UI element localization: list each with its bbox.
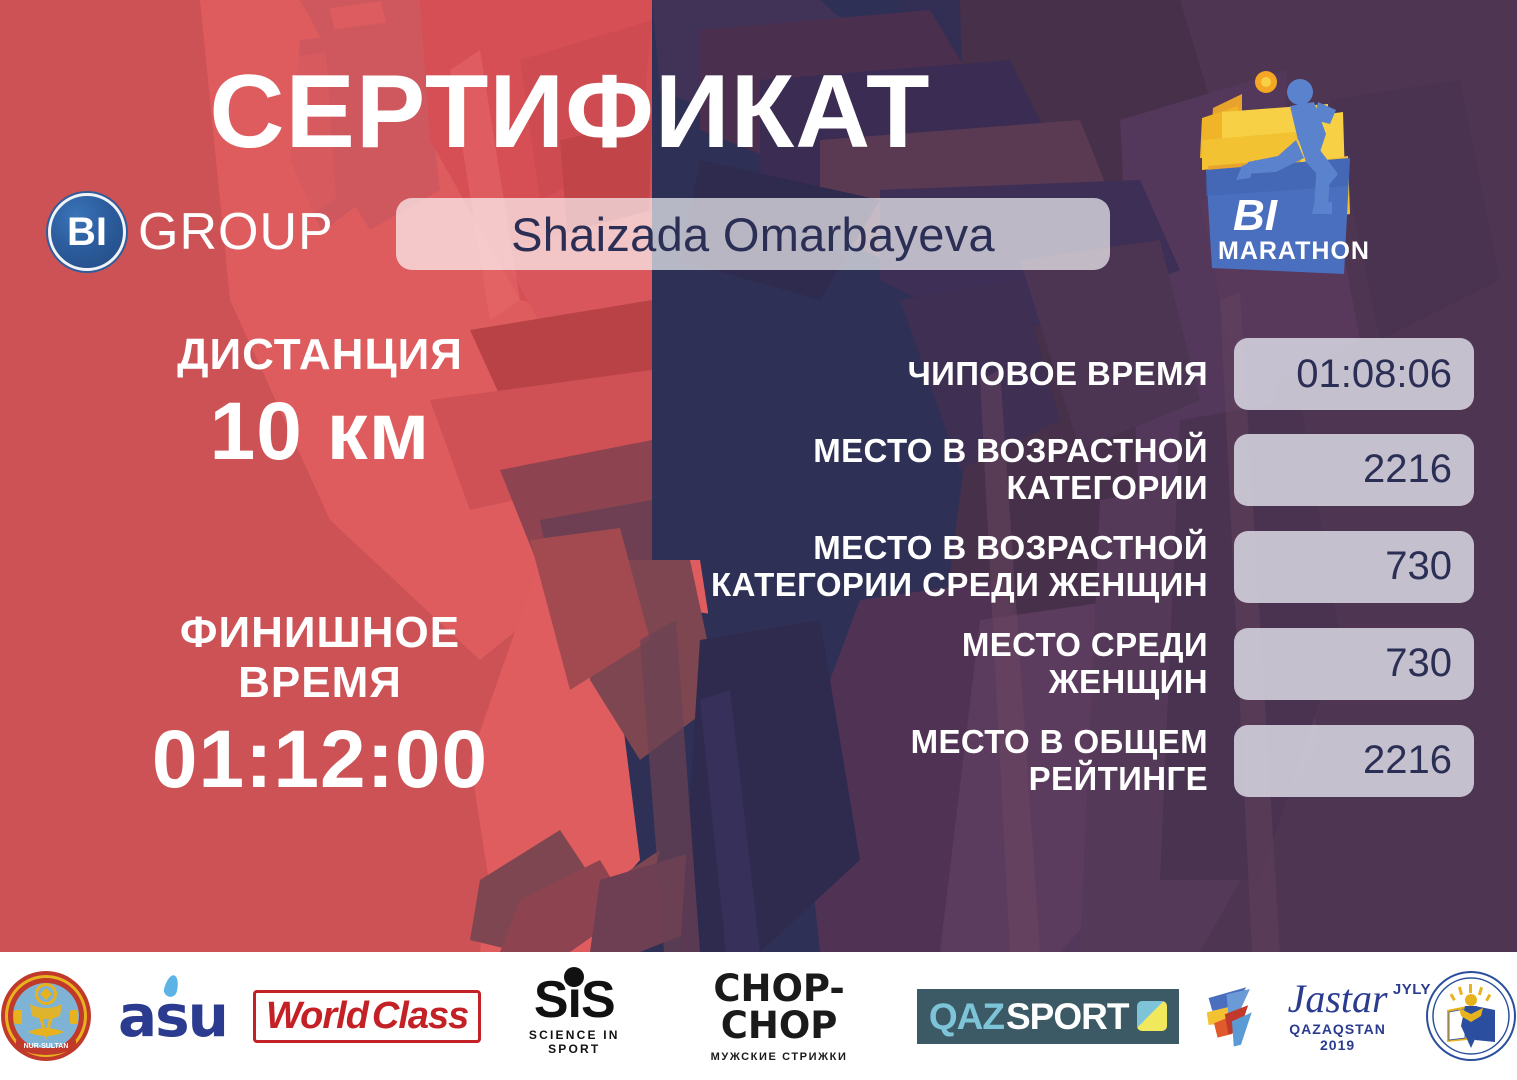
bi-marathon-logo: BI MARATHON [1178, 62, 1383, 308]
stat-row: МЕСТО В ОБЩЕМ РЕЙТИНГЕ 2216 [612, 724, 1474, 798]
stat-value: 730 [1234, 628, 1474, 700]
participant-name-badge: Shaizada Omarbayeva [396, 198, 1110, 270]
jastar-text-block: Jastar JYLY QAZAQSTAN 2019 [1276, 979, 1399, 1053]
stat-label: МЕСТО В ОБЩЕМ РЕЙТИНГЕ [612, 724, 1234, 798]
stat-label: МЕСТО В ВОЗРАСТНОЙ КАТЕГОРИИ СРЕДИ ЖЕНЩИ… [612, 530, 1234, 604]
sponsor-qazsport: QAZ SPORT [917, 968, 1180, 1064]
world-class-word2: Class [372, 997, 468, 1035]
marathon-bi-text: BI [1233, 191, 1278, 240]
left-stats-column: ДИСТАНЦИЯ 10 км ФИНИШНОЕ ВРЕМЯ 01:12:00 [40, 330, 600, 806]
stat-value: 2216 [1234, 434, 1474, 506]
finish-time-label: ФИНИШНОЕ ВРЕМЯ [40, 608, 600, 708]
stat-label: МЕСТО В ВОЗРАСТНОЙ КАТЕГОРИИ [612, 433, 1234, 507]
stat-label: ЧИПОВОЕ ВРЕМЯ [612, 356, 1234, 393]
qazsport-word1: QAZ [929, 998, 1004, 1035]
ministry-emblem-icon [1425, 970, 1517, 1062]
stat-row: ЧИПОВОЕ ВРЕМЯ 01:08:06 [612, 338, 1474, 410]
distance-value: 10 км [40, 386, 600, 478]
sponsor-chop-chop: CHOP-CHOP МУЖСКИЕ СТРИЖКИ [667, 968, 891, 1064]
participant-name: Shaizada Omarbayeva [511, 207, 995, 262]
asu-logo: asu [118, 987, 227, 1045]
chop-chop-tagline: МУЖСКИЕ СТРИЖКИ [667, 1051, 891, 1063]
bi-circle-icon: BI [48, 193, 126, 271]
sponsor-asu: asu [118, 968, 227, 1064]
stat-value: 01:08:06 [1234, 338, 1474, 410]
world-class-logo: World Class [253, 990, 481, 1043]
sponsor-ministry [1425, 968, 1517, 1064]
stat-row: МЕСТО СРЕДИ ЖЕНЩИН 730 [612, 627, 1474, 701]
sis-tagline: SCIENCE IN SPORT [507, 1028, 641, 1056]
qazsport-mark-icon [1137, 1001, 1167, 1031]
sponsor-jastar: Jastar JYLY QAZAQSTAN 2019 [1205, 968, 1399, 1064]
bi-group-logo: BI GROUP [48, 193, 334, 271]
stat-label: МЕСТО СРЕДИ ЖЕНЩИН [612, 627, 1234, 701]
sponsor-sis: SiS SCIENCE IN SPORT [507, 968, 641, 1064]
world-class-word1: World [266, 997, 368, 1035]
left-spacer [40, 478, 600, 608]
stat-row: МЕСТО В ВОЗРАСТНОЙ КАТЕГОРИИ СРЕДИ ЖЕНЩИ… [612, 530, 1474, 604]
sis-dot-icon [564, 967, 584, 987]
qazsport-logo: QAZ SPORT [917, 989, 1180, 1044]
stat-value: 2216 [1234, 725, 1474, 797]
marathon-word-text: MARATHON [1218, 237, 1370, 265]
jastar-jyly-label: JYLY [1393, 981, 1431, 998]
jastar-arrow-icon [1205, 978, 1270, 1054]
chop-chop-logo: CHOP-CHOP МУЖСКИЕ СТРИЖКИ [667, 970, 891, 1063]
stat-value: 730 [1234, 531, 1474, 603]
qazsport-word2: SPORT [1006, 998, 1128, 1035]
sis-label: SiS [534, 976, 615, 1025]
right-stats-column: ЧИПОВОЕ ВРЕМЯ 01:08:06 МЕСТО В ВОЗРАСТНО… [612, 338, 1474, 821]
page-title: СЕРТИФИКАТ [0, 58, 1140, 167]
chop-chop-label: CHOP-CHOP [667, 970, 891, 1044]
svg-text:NUR-SULTAN: NUR-SULTAN [24, 1043, 69, 1050]
sponsor-nur-sultan: NUR-SULTAN [0, 968, 92, 1064]
sponsor-world-class: World Class [253, 968, 481, 1064]
bi-marathon-svg: BI MARATHON [1178, 62, 1383, 308]
jastar-tagline: QAZAQSTAN 2019 [1276, 1021, 1399, 1053]
certificate-canvas: СЕРТИФИКАТ BI GROUP Shaizada Omarbayeva [0, 0, 1517, 1080]
finish-time-value: 01:12:00 [40, 714, 600, 806]
jastar-label: Jastar [1276, 979, 1399, 1019]
nur-sultan-emblem-icon: NUR-SULTAN [0, 970, 92, 1062]
distance-label: ДИСТАНЦИЯ [40, 330, 600, 380]
jastar-logo: Jastar JYLY QAZAQSTAN 2019 [1205, 978, 1399, 1054]
sponsor-bar: NUR-SULTAN asu World Class [0, 952, 1517, 1080]
distance-block: ДИСТАНЦИЯ 10 км [40, 330, 600, 478]
bi-group-label: GROUP [138, 202, 334, 262]
stat-row: МЕСТО В ВОЗРАСТНОЙ КАТЕГОРИИ 2216 [612, 433, 1474, 507]
sis-logo: SiS SCIENCE IN SPORT [507, 976, 641, 1056]
finish-time-block: ФИНИШНОЕ ВРЕМЯ 01:12:00 [40, 608, 600, 806]
